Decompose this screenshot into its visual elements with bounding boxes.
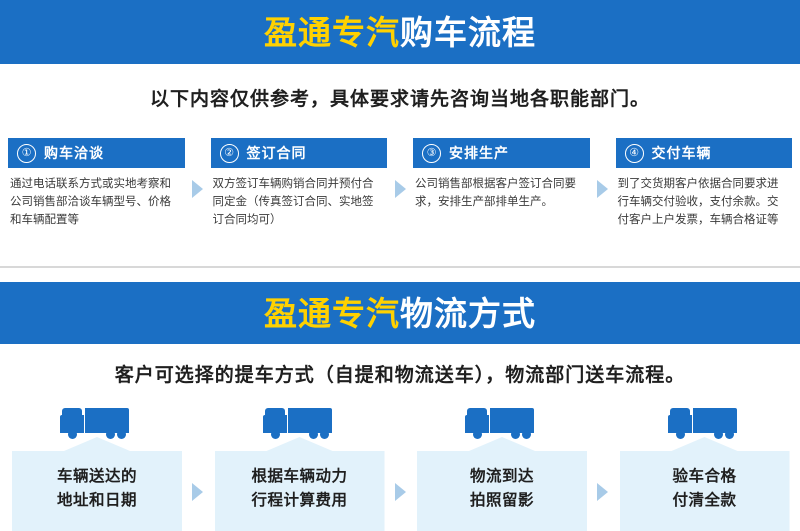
step-title: 签订合同	[247, 143, 307, 163]
chevron-right-icon	[597, 483, 608, 501]
logistics-flow-steps: 车辆送达的 地址和日期 根据车辆动力 行程计算费用	[8, 405, 792, 531]
section-1-banner: 盈通专汽购车流程	[0, 0, 800, 64]
step-header: ① 购车洽谈	[8, 138, 185, 168]
truck-icon	[465, 405, 537, 441]
section-2-title-highlight: 盈通专汽	[264, 295, 400, 332]
logistics-line-2: 地址和日期	[12, 489, 182, 513]
page-root: 盈通专汽购车流程 以下内容仅供参考，具体要求请先咨询当地各职能部门。 ① 购车洽…	[0, 0, 800, 531]
section-1-title-rest: 购车流程	[400, 14, 536, 51]
logistics-panel: 验车合格 付清全款	[620, 437, 790, 531]
step-number-badge: ①	[17, 144, 36, 163]
step-arrow	[590, 138, 616, 198]
chevron-right-icon	[192, 180, 203, 198]
step-body: 通过电话联系方式或实地考察和公司销售部洽谈车辆型号、价格和车辆配置等	[8, 168, 185, 229]
truck-icon	[668, 405, 740, 441]
step-header: ② 签订合同	[211, 138, 388, 168]
logistics-card: 物流到达 拍照留影	[413, 405, 590, 531]
truck-icon	[60, 405, 132, 441]
step-card: ④ 交付车辆 到了交货期客户依据合同要求进行车辆交付验收，支付余款。交付客户上户…	[616, 138, 793, 229]
section-1-title-highlight: 盈通专汽	[264, 14, 400, 51]
step-title: 购车洽谈	[44, 143, 104, 163]
logistics-panel: 物流到达 拍照留影	[417, 437, 587, 531]
section-1-title: 盈通专汽购车流程	[264, 16, 536, 49]
section-2-subtitle: 客户可选择的提车方式（自提和物流送车），物流部门送车流程。	[0, 360, 800, 387]
step-arrow	[387, 138, 413, 198]
step-body: 到了交货期客户依据合同要求进行车辆交付验收，支付余款。交付客户上户发票，车辆合格…	[616, 168, 793, 229]
step-card: ③ 安排生产 公司销售部根据客户签订合同要求，安排生产部排单生产。	[413, 138, 590, 212]
logistics-line-1: 物流到达	[417, 465, 587, 489]
logistics-line-1: 验车合格	[620, 465, 790, 489]
step-card: ② 签订合同 双方签订车辆购销合同并预付合同定金（传真签订合同、实地签订合同均可…	[211, 138, 388, 229]
logistics-card: 根据车辆动力 行程计算费用	[211, 405, 388, 531]
step-arrow	[185, 138, 211, 198]
purchase-flow-steps: ① 购车洽谈 通过电话联系方式或实地考察和公司销售部洽谈车辆型号、价格和车辆配置…	[8, 138, 792, 248]
step-title: 交付车辆	[652, 143, 712, 163]
logistics-line-2: 行程计算费用	[215, 489, 385, 513]
logistics-panel: 车辆送达的 地址和日期	[12, 437, 182, 531]
logistics-card: 验车合格 付清全款	[616, 405, 793, 531]
step-header: ④ 交付车辆	[616, 138, 793, 168]
chevron-right-icon	[192, 483, 203, 501]
section-divider	[0, 266, 800, 268]
step-number-badge: ②	[220, 144, 239, 163]
logistics-arrow	[185, 405, 211, 501]
section-2-title-rest: 物流方式	[400, 295, 536, 332]
section-2-banner: 盈通专汽物流方式	[0, 282, 800, 344]
step-body: 双方签订车辆购销合同并预付合同定金（传真签订合同、实地签订合同均可）	[211, 168, 388, 229]
step-body: 公司销售部根据客户签订合同要求，安排生产部排单生产。	[413, 168, 590, 212]
logistics-arrow	[590, 405, 616, 501]
step-card: ① 购车洽谈 通过电话联系方式或实地考察和公司销售部洽谈车辆型号、价格和车辆配置…	[8, 138, 185, 229]
step-number-badge: ③	[422, 144, 441, 163]
logistics-panel: 根据车辆动力 行程计算费用	[215, 437, 385, 531]
logistics-line-1: 根据车辆动力	[215, 465, 385, 489]
logistics-line-2: 付清全款	[620, 489, 790, 513]
chevron-right-icon	[597, 180, 608, 198]
step-number-badge: ④	[625, 144, 644, 163]
truck-icon	[263, 405, 335, 441]
logistics-line-2: 拍照留影	[417, 489, 587, 513]
step-title: 安排生产	[449, 143, 509, 163]
chevron-right-icon	[395, 483, 406, 501]
step-header: ③ 安排生产	[413, 138, 590, 168]
logistics-line-1: 车辆送达的	[12, 465, 182, 489]
section-1-subtitle: 以下内容仅供参考，具体要求请先咨询当地各职能部门。	[0, 84, 800, 111]
section-2-title: 盈通专汽物流方式	[264, 297, 536, 330]
chevron-right-icon	[395, 180, 406, 198]
logistics-arrow	[387, 405, 413, 501]
logistics-card: 车辆送达的 地址和日期	[8, 405, 185, 531]
